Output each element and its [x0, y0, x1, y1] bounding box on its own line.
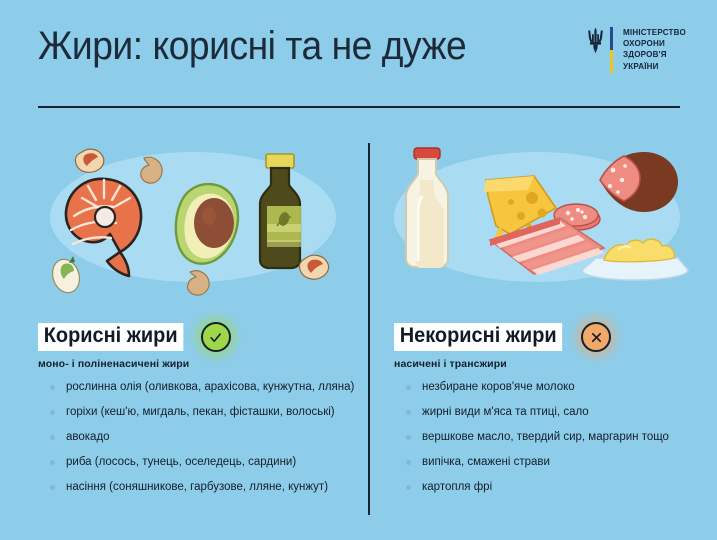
- pistachio-icon: [48, 256, 83, 296]
- healthy-fats-subheading: моно- і поліненасичені жири: [38, 358, 231, 370]
- peanut-icon: [299, 255, 328, 279]
- healthy-fats-header: Корисні жири: [38, 322, 231, 352]
- list-item: вершкове масло, твердий сир, маргарин то…: [406, 432, 706, 444]
- ukraine-trident-icon: [587, 27, 604, 73]
- list-item: випічка, смажені страви: [406, 457, 706, 469]
- infographic-page: Жири: корисні та не дуже Міністерство Ох…: [0, 0, 717, 540]
- unhealthy-fats-heading: Некорисні жири: [394, 323, 562, 350]
- list-item: незбиране коров'яче молоко: [406, 382, 706, 394]
- list-item: авокадо: [50, 432, 350, 444]
- salami-sausage-icon: [600, 152, 678, 212]
- cashew-icon: [141, 157, 162, 183]
- unhealthy-fats-subheading: насичені і трансжири: [394, 358, 611, 370]
- x-glyph: [589, 330, 604, 345]
- list-item: риба (лосось, тунець, оселедець, сардини…: [50, 457, 350, 469]
- healthy-fats-heading: Корисні жири: [38, 323, 183, 350]
- x-circle-icon: [581, 322, 611, 352]
- cashew-icon: [187, 271, 209, 295]
- logo-line-2: Охорони: [623, 38, 686, 49]
- column-divider: [368, 143, 370, 515]
- ministry-logo: Міністерство Охорони Здоров'я України: [587, 27, 689, 73]
- check-glyph: [208, 330, 223, 345]
- list-item: насіння (соняшникове, гарбузове, лляне, …: [50, 482, 350, 494]
- peanut-icon: [75, 149, 103, 172]
- salmon-steak-icon: [66, 179, 141, 276]
- unhealthy-fats-section: Некорисні жири насичені і трансжири: [394, 322, 611, 370]
- list-item: рослинна олія (оливкова, арахісова, кунж…: [50, 382, 350, 394]
- avocado-half-icon: [176, 184, 238, 264]
- list-item: жирні види м'яса та птиці, сало: [406, 407, 706, 419]
- milk-bottle-icon: [406, 148, 448, 268]
- ministry-logo-text: Міністерство Охорони Здоров'я України: [623, 27, 686, 72]
- list-item: картопля фрі: [406, 482, 706, 494]
- olive-oil-bottle-icon: [260, 154, 301, 268]
- unhealthy-fats-list: незбиране коров'яче молоко жирні види м'…: [406, 382, 706, 507]
- logo-line-4: України: [623, 61, 686, 72]
- healthy-fats-list: рослинна олія (оливкова, арахісова, кунж…: [50, 382, 350, 507]
- healthy-fats-section: Корисні жири моно- і поліненасичені жири: [38, 322, 231, 370]
- unhealthy-foods-graphic: [382, 140, 692, 300]
- list-item: горіхи (кеш'ю, мигдаль, пекан, фісташки,…: [50, 407, 350, 419]
- logo-divider-bar: [610, 27, 613, 73]
- header-divider: [38, 106, 680, 108]
- unhealthy-fats-illustration: [382, 140, 692, 300]
- healthy-fats-illustration: [38, 140, 348, 300]
- page-title: Жири: корисні та не дуже: [38, 24, 466, 69]
- check-circle-icon: [201, 322, 231, 352]
- logo-line-3: Здоров'я: [623, 49, 686, 60]
- unhealthy-fats-header: Некорисні жири: [394, 322, 611, 352]
- logo-line-1: Міністерство: [623, 27, 686, 38]
- healthy-foods-graphic: [38, 140, 348, 300]
